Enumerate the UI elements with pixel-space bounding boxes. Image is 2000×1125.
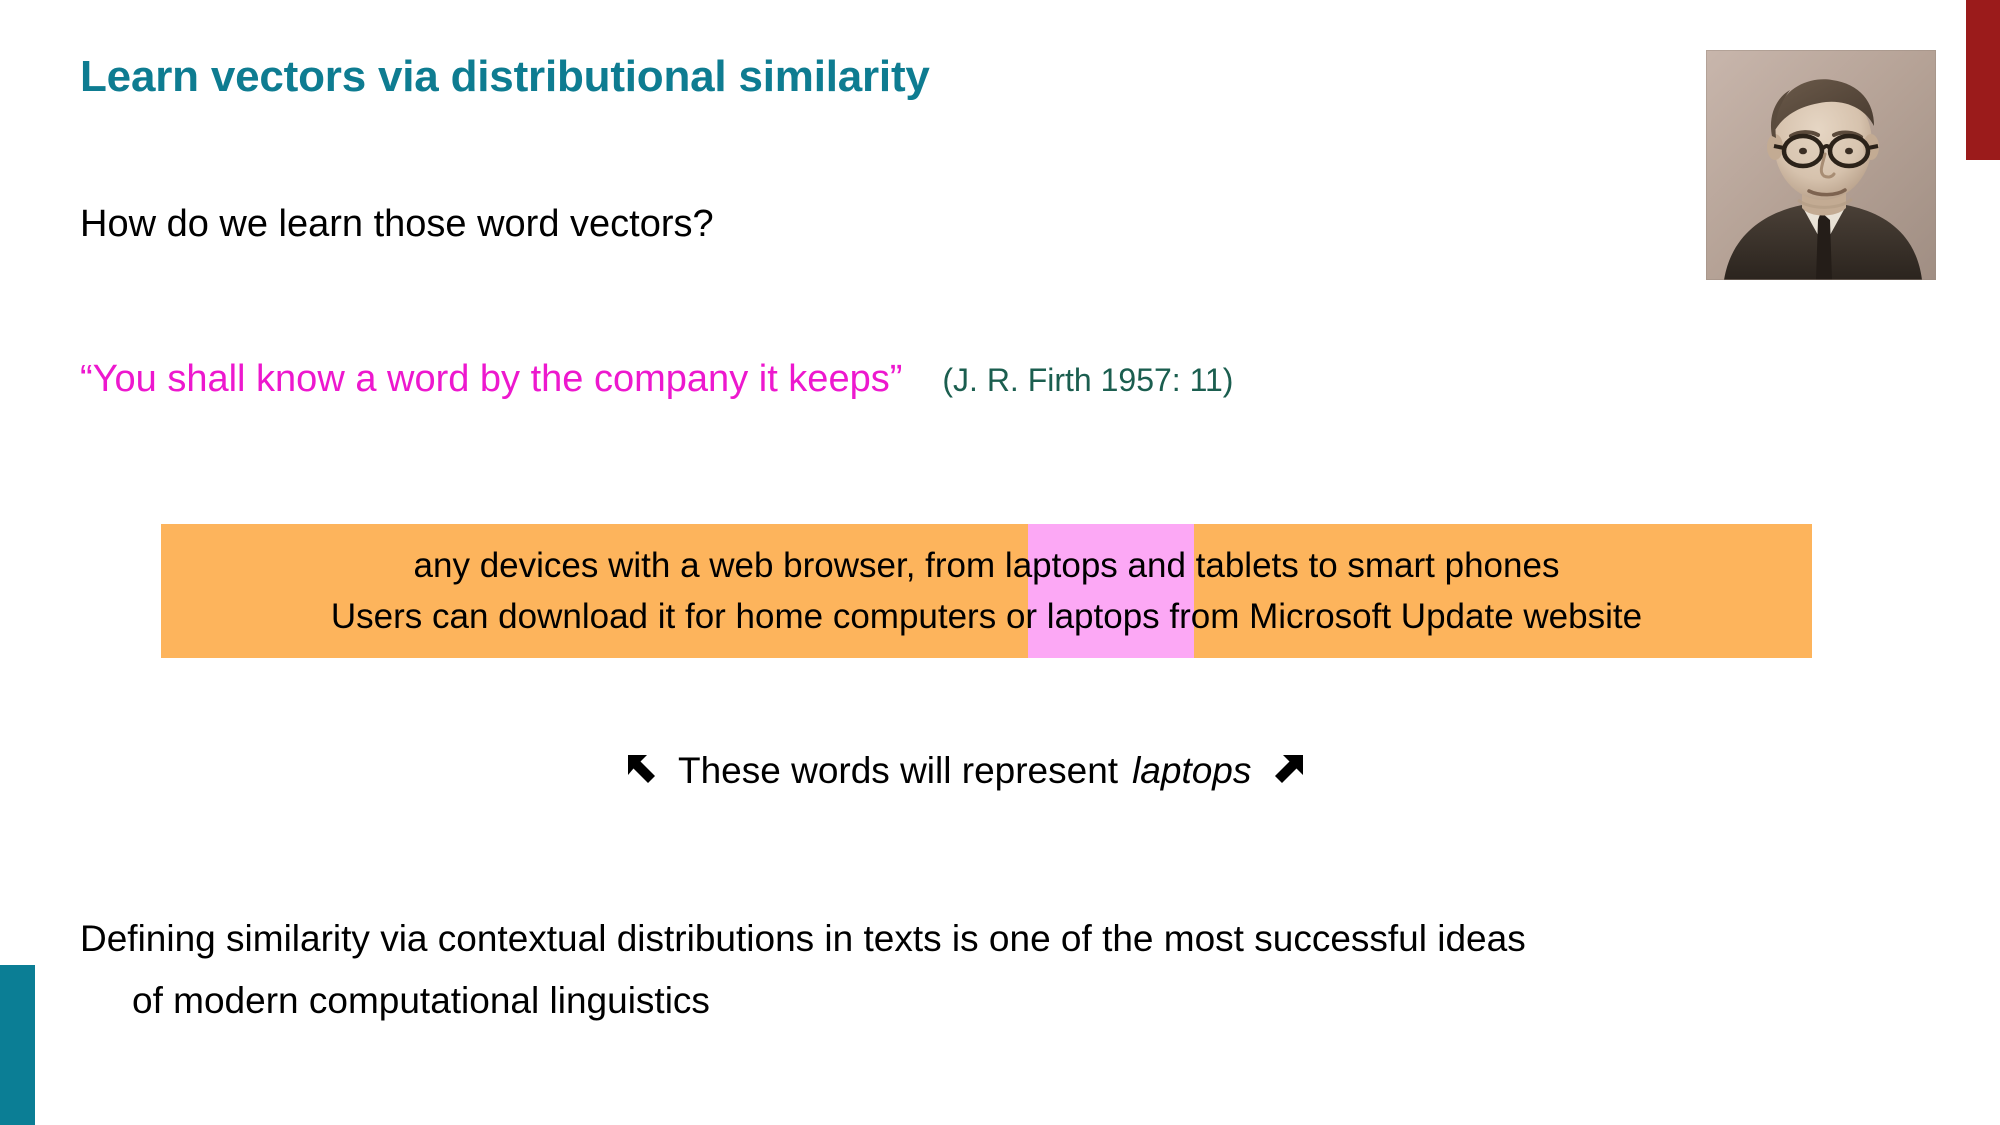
context-line-2: Users can download it for home computers… <box>331 591 1642 642</box>
context-line-2-pre: Users can download it for home computers… <box>331 597 1047 636</box>
question-line: How do we learn those word vectors? <box>80 203 714 246</box>
closing-paragraph: Defining similarity via contextual distr… <box>80 908 1950 1032</box>
context-example-lines: any devices with a web browser, from lap… <box>161 524 1812 658</box>
firth-citation: (J. R. Firth 1957: 11) <box>942 362 1233 398</box>
accent-bar-bottom-left <box>0 965 35 1125</box>
firth-quote-row: “You shall know a word by the company it… <box>80 358 1233 401</box>
page-title: Learn vectors via distributional similar… <box>80 52 930 102</box>
accent-bar-top-right <box>1966 0 2000 160</box>
portrait-image <box>1706 50 1936 280</box>
context-line-2-post: from Microsoft Update website <box>1160 597 1642 636</box>
closing-line-1: Defining similarity via contextual distr… <box>80 918 1526 959</box>
represent-annotation-row: These words will represent laptops <box>622 750 1309 792</box>
context-line-2-target: laptops <box>1047 597 1160 636</box>
slide-canvas: Learn vectors via distributional similar… <box>0 0 2000 1125</box>
context-line-1-pre: any devices with a web browser, from <box>414 546 1005 585</box>
context-line-1-target: laptops <box>1005 546 1118 585</box>
context-line-1-post: and tablets to smart phones <box>1118 546 1560 585</box>
arrow-up-right-icon <box>1269 751 1309 791</box>
closing-line-2: of modern computational linguistics <box>80 970 1950 1032</box>
represent-target-word: laptops <box>1132 750 1251 792</box>
context-line-1: any devices with a web browser, from lap… <box>414 540 1560 591</box>
portrait-photo <box>1706 50 1936 280</box>
firth-quote-text: “You shall know a word by the company it… <box>80 358 902 400</box>
represent-label: These words will represent <box>678 750 1118 792</box>
arrow-up-left-icon <box>622 751 662 791</box>
